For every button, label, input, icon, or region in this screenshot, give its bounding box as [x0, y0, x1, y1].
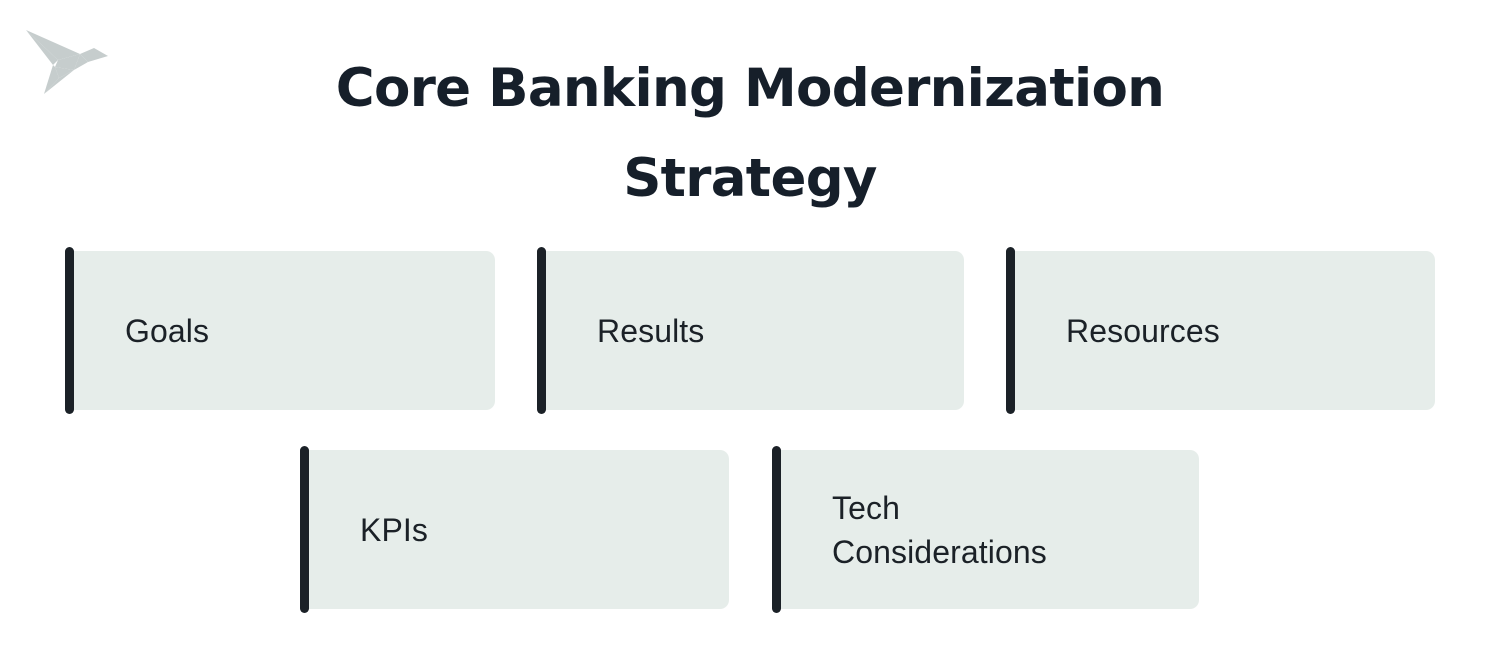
card-accent-bar [537, 247, 546, 414]
card-results[interactable]: Results [537, 251, 964, 410]
card-label: Goals [125, 309, 477, 353]
card-resources[interactable]: Resources [1006, 251, 1435, 410]
card-accent-bar [772, 446, 781, 613]
origami-bird-logo [22, 26, 112, 98]
card-label: KPIs [360, 508, 711, 552]
card-goals[interactable]: Goals [65, 251, 495, 410]
card-label: Results [597, 309, 946, 353]
page-title: Core Banking Modernization Strategy [180, 44, 1320, 224]
card-accent-bar [1006, 247, 1015, 414]
card-kpis[interactable]: KPIs [300, 450, 729, 609]
card-accent-bar [65, 247, 74, 414]
slide-canvas: Core Banking Modernization Strategy Goal… [0, 0, 1500, 670]
card-label: Tech Considerations [832, 486, 1181, 574]
card-tech-considerations[interactable]: Tech Considerations [772, 450, 1199, 609]
card-label: Resources [1066, 309, 1417, 353]
card-accent-bar [300, 446, 309, 613]
